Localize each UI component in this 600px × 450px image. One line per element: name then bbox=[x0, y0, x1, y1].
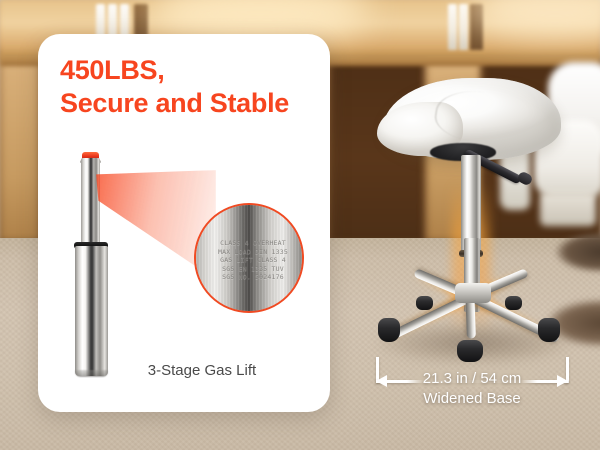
magnifier-circle: CLASS 4 OVERHEAT MAX LOAD DIN 1335 GAS L… bbox=[194, 203, 304, 313]
product-feature-image: 21.3 in / 54 cm Widened Base 450LBS, Sec… bbox=[0, 0, 600, 450]
gas-lift-caption: 3-Stage Gas Lift bbox=[38, 362, 330, 379]
base-hub bbox=[455, 283, 491, 303]
engraved-line: CLASS 4 OVERHEAT bbox=[214, 239, 292, 248]
dimension-sub-label-box: Widened Base bbox=[376, 389, 568, 408]
engraved-line: GAS LIFT CLASS 4 bbox=[214, 256, 292, 265]
engraved-line: MAX LOAD DIN 1335 bbox=[214, 248, 292, 257]
feature-info-card: 450LBS, Secure and Stable CLASS 4 OVERHE… bbox=[38, 34, 330, 412]
engraved-line: SGS EN 1335 TUV bbox=[214, 265, 292, 274]
dimension-sub-label: Widened Base bbox=[376, 389, 568, 408]
gas-lift-outer-tube bbox=[75, 246, 108, 376]
base-leg bbox=[466, 298, 476, 338]
lever-knob bbox=[516, 170, 533, 186]
caster-wheel bbox=[457, 340, 483, 362]
caster-wheel bbox=[538, 318, 560, 342]
gas-lift-piston-rod bbox=[81, 158, 100, 254]
dimension-value: 21.3 in / 54 cm bbox=[417, 370, 527, 387]
engraved-certification-text: CLASS 4 OVERHEAT MAX LOAD DIN 1335 GAS L… bbox=[214, 239, 292, 282]
caster-wheel bbox=[378, 318, 400, 342]
caster-wheel bbox=[416, 296, 433, 310]
caster-wheel bbox=[505, 296, 522, 310]
engraved-line: SGS NO. 5024176 bbox=[214, 273, 292, 282]
dimension-value-wrap: 21.3 in / 54 cm bbox=[376, 370, 568, 388]
